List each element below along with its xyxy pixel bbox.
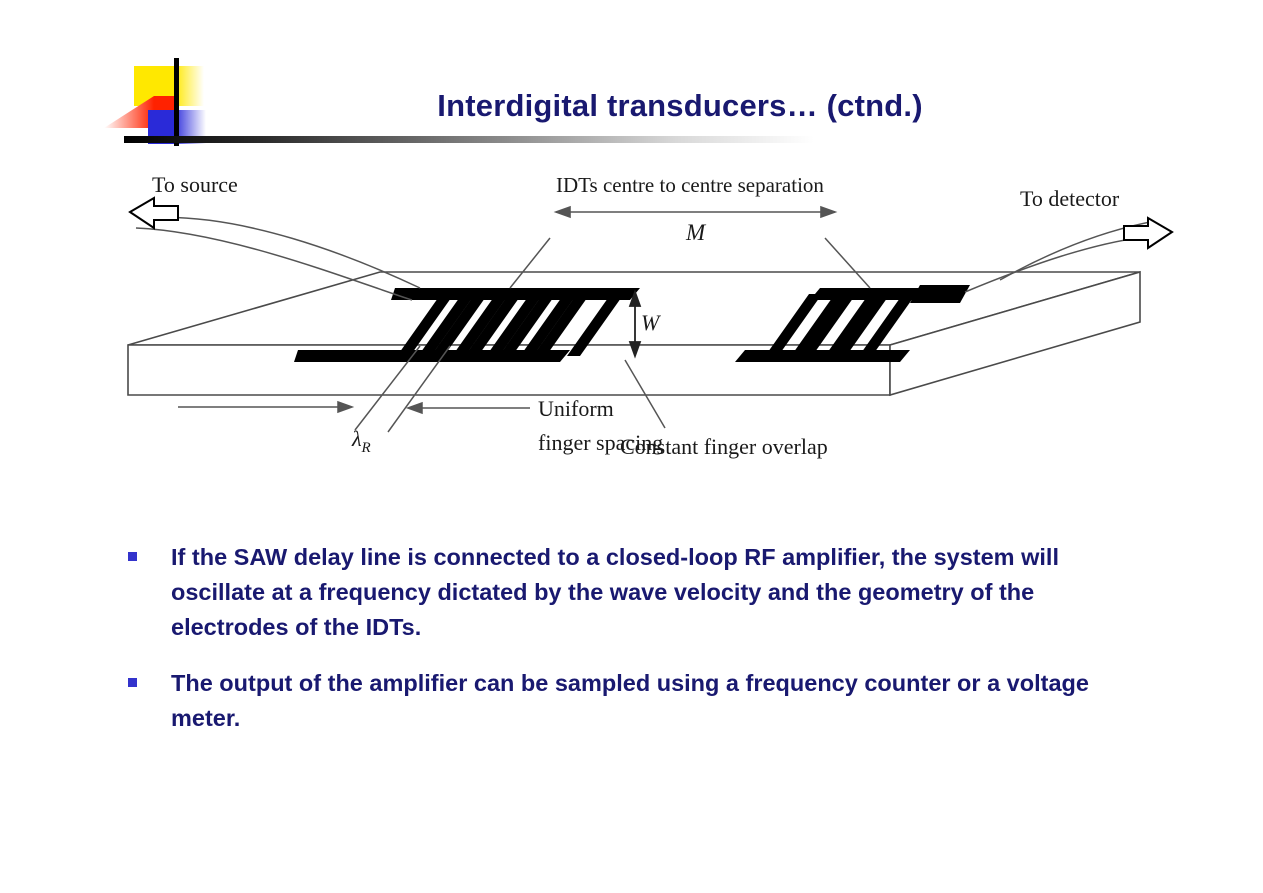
uniform-spacing-arrow	[408, 403, 530, 413]
bullet-text: The output of the amplifier can be sampl…	[171, 666, 1138, 736]
to-detector-arrow-icon	[1124, 218, 1172, 248]
bullet-list: If the SAW delay line is connected to a …	[128, 540, 1138, 758]
list-item: If the SAW delay line is connected to a …	[128, 540, 1138, 644]
to-source-arrow-icon	[130, 198, 178, 228]
wavelength-symbol: λR	[351, 426, 371, 456]
idt-separation-caption: IDTs centre to centre separation	[556, 173, 824, 197]
list-item: The output of the amplifier can be sampl…	[128, 666, 1138, 736]
title-underline-rule	[124, 136, 814, 143]
constant-overlap-label: Constant finger overlap	[620, 434, 828, 459]
logo-red-triangle	[104, 96, 154, 128]
slide-title-area: Interdigital transducers… (ctnd.)	[0, 0, 1263, 160]
saw-device-diagram: To source To detector IDTs centre to cen…	[120, 160, 1180, 480]
to-detector-label: To detector	[1020, 186, 1120, 211]
overlap-symbol-W: W	[641, 310, 661, 335]
separation-dimension-arrow	[556, 207, 835, 217]
wavelength-arrow	[178, 402, 352, 412]
bullet-square-icon	[128, 552, 137, 561]
uniform-spacing-label-line1: Uniform	[538, 396, 614, 421]
bullet-text: If the SAW delay line is connected to a …	[171, 540, 1138, 644]
powerpoint-corner-logo	[118, 58, 238, 146]
separation-symbol-M: M	[685, 220, 707, 245]
bullet-square-icon	[128, 678, 137, 687]
logo-vertical-line	[174, 58, 179, 146]
to-source-label: To source	[152, 172, 238, 197]
page-title: Interdigital transducers… (ctnd.)	[250, 88, 1110, 124]
